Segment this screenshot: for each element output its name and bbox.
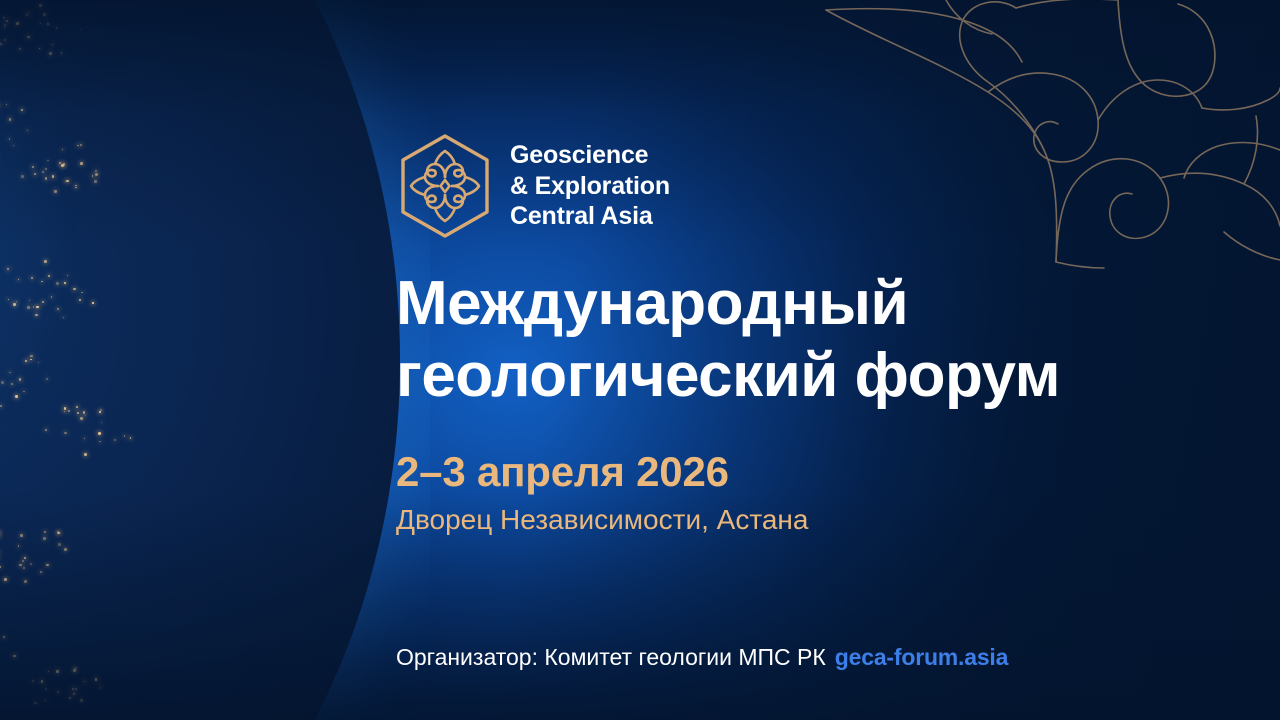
headline-line-2: геологический форум: [396, 340, 1186, 412]
footer: Организатор: Комитет геологии МПС РК gec…: [396, 644, 1008, 671]
event-date-venue: 2–3 апреля 2026 Дворец Независимости, Ас…: [396, 448, 808, 537]
poster-content: Geoscience & Exploration Central Asia Ме…: [396, 0, 1196, 720]
logo-line-2: & Exploration: [510, 171, 670, 202]
brand-logo-lockup: Geoscience & Exploration Central Asia: [396, 133, 670, 239]
event-venue: Дворец Независимости, Астана: [396, 502, 808, 537]
footer-organizer: Организатор: Комитет геологии МПС РК: [396, 644, 826, 671]
footer-url-link[interactable]: geca-forum.asia: [835, 644, 1008, 671]
headline-line-1: Международный: [396, 268, 1186, 340]
logo-line-3: Central Asia: [510, 201, 670, 232]
logo-line-1: Geoscience: [510, 140, 670, 171]
hexagon-kazakh-ornament-emblem-icon: [396, 133, 494, 239]
event-poster: Geoscience & Exploration Central Asia Ме…: [0, 0, 1280, 720]
brand-logo-wordmark: Geoscience & Exploration Central Asia: [510, 140, 670, 232]
page-title: Международный геологический форум: [396, 268, 1186, 412]
event-dates: 2–3 апреля 2026: [396, 448, 808, 496]
